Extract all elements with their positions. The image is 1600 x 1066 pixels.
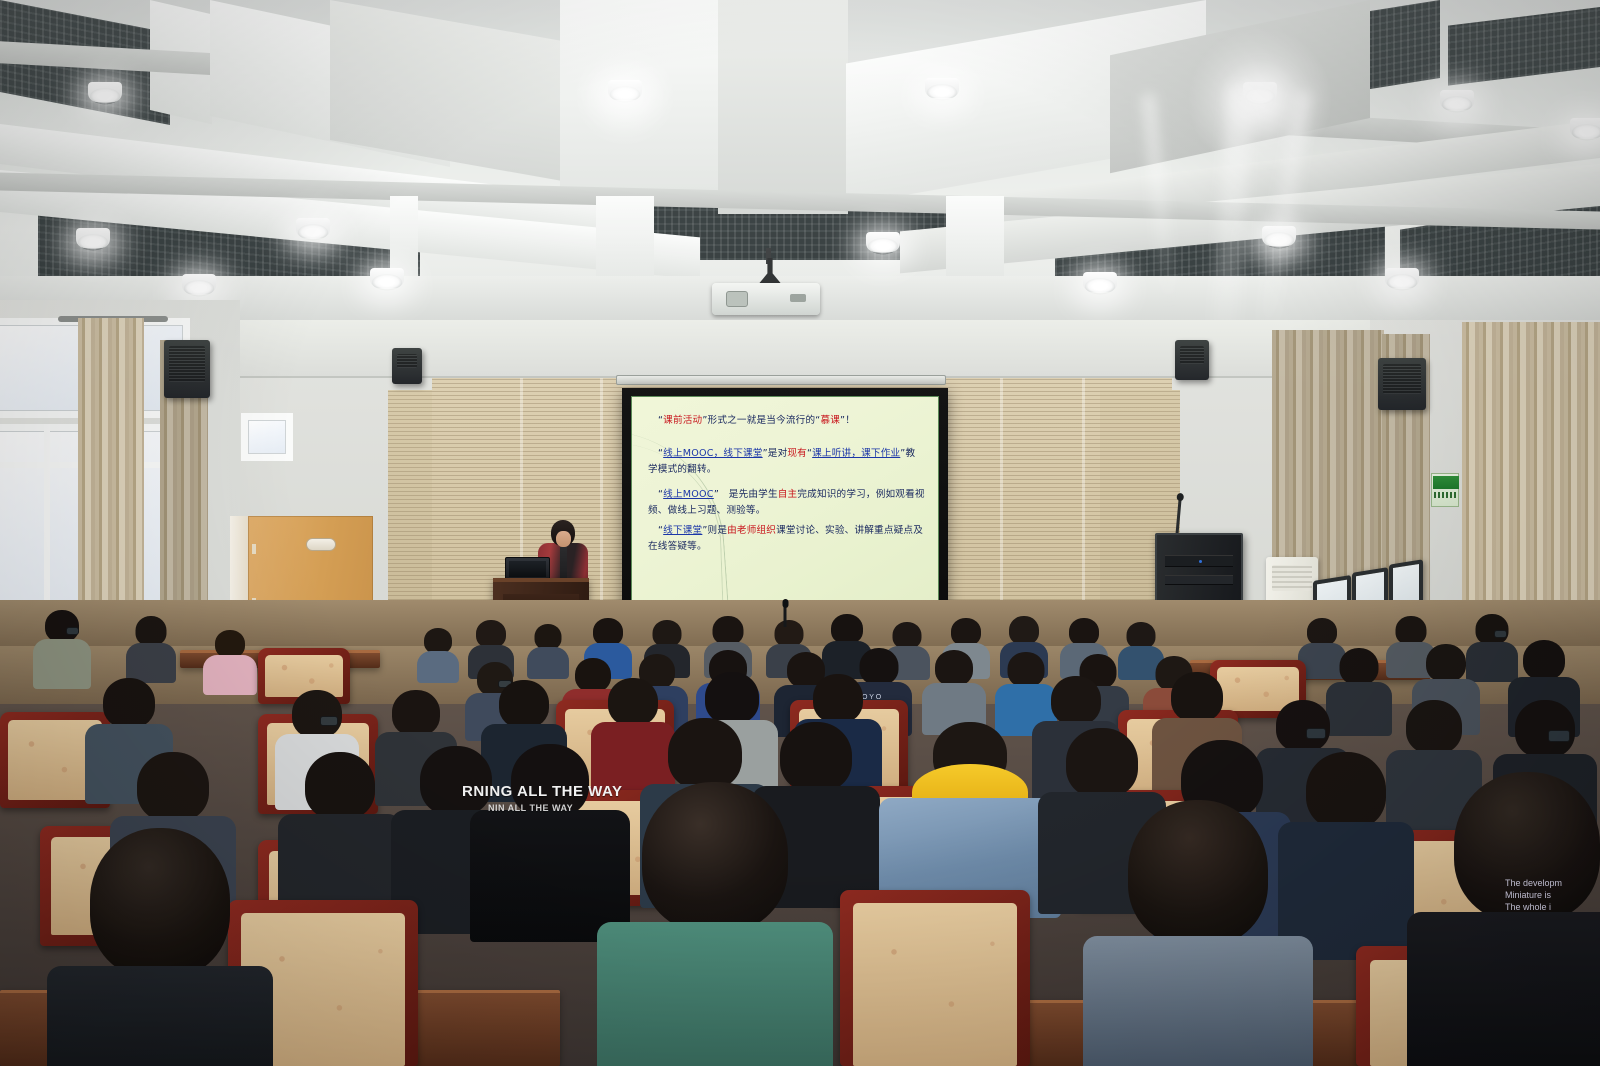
head <box>1307 618 1337 646</box>
eyeglasses <box>320 716 338 726</box>
head <box>1426 644 1466 682</box>
speaker-grille <box>169 346 205 382</box>
ceiling-panel-dark <box>1448 6 1600 86</box>
slide-seg: ” 是先由学生 <box>714 489 778 500</box>
slide-seg-term: 课上听讲，课下作业 <box>812 448 900 459</box>
head <box>392 690 440 736</box>
audience-member-foreground <box>610 782 820 1066</box>
ceiling-downlight <box>76 228 110 248</box>
head <box>813 674 863 723</box>
ceiling-beam <box>718 0 848 214</box>
slat-seam <box>600 378 603 628</box>
rack-unit <box>1165 575 1233 585</box>
torso <box>33 639 91 689</box>
head <box>593 618 623 646</box>
head <box>653 620 682 647</box>
audience-member-foreground <box>60 828 260 1066</box>
torso <box>597 922 833 1066</box>
sign-text <box>1434 492 1458 498</box>
audience-member-foreground <box>1422 772 1600 1066</box>
wall-speaker <box>1175 340 1209 380</box>
torso <box>527 647 569 679</box>
slide-seg: ”是对 <box>763 448 788 459</box>
head <box>1171 672 1223 722</box>
torso <box>203 655 257 695</box>
laptop-screen <box>509 561 546 577</box>
projector-lens <box>726 291 748 307</box>
head <box>90 828 230 978</box>
head <box>893 622 922 649</box>
ceiling-downlight <box>370 268 404 288</box>
ceiling-downlight <box>1385 268 1419 288</box>
slide-paragraph-3: “线上MOOC” 是先由学生自主完成知识的学习，例如观看视频、做线上习题、测验等… <box>648 487 925 519</box>
head <box>831 614 863 644</box>
slide-seg-term: 线上MOOC <box>663 489 714 500</box>
slide-seg: ”则是 <box>702 525 727 536</box>
slide-seg-highlight: 自主 <box>778 489 798 500</box>
lecture-hall-photo: “课前活动”形式之一就是当今流行的“慕课”！ “线上MOOC，线下课堂”是对现有… <box>0 0 1600 1066</box>
slide-seg: ”！ <box>840 415 855 426</box>
ceiling-downlight <box>1440 90 1474 110</box>
chair-cushion <box>853 903 1017 1066</box>
slide-seg-term: 线上MOOC，线下课堂 <box>663 448 762 459</box>
torso <box>1083 936 1313 1066</box>
head <box>1051 676 1101 725</box>
eyeglasses <box>66 627 79 635</box>
slide-content: “课前活动”形式之一就是当今流行的“慕课”！ “线上MOOC，线下课堂”是对现有… <box>632 397 938 570</box>
audience-member-jacket-text <box>480 744 620 934</box>
slide-paragraph-1: “课前活动”形式之一就是当今流行的“慕课”！ <box>648 413 925 429</box>
head <box>137 752 209 822</box>
torso <box>417 651 459 683</box>
door-hinge <box>252 544 256 554</box>
ceiling-downlight <box>1083 272 1117 292</box>
wall-speaker <box>392 348 422 384</box>
projector-control <box>790 294 806 302</box>
safety-notice-sign <box>1431 473 1459 507</box>
head <box>136 616 167 646</box>
acoustic-slat-panel <box>388 390 436 628</box>
floor-microphone <box>784 605 787 627</box>
slide-paragraph-2: “线上MOOC，线下课堂”是对现有“课上听讲，课下作业”教学模式的翻转。 <box>648 446 925 478</box>
speaker-grille <box>1180 346 1204 364</box>
door-nameplate <box>306 538 336 551</box>
ceiling-downlight <box>88 82 122 102</box>
audience-member-denim <box>890 718 1050 910</box>
audience-member <box>36 610 88 684</box>
ceiling <box>0 0 1600 330</box>
ceiling-projector <box>712 283 820 315</box>
audience-member <box>286 752 394 920</box>
ceiling-beam <box>560 0 720 200</box>
head <box>476 620 506 648</box>
shirt-print-line2: Miniature is <box>1505 890 1551 900</box>
head <box>1340 648 1379 685</box>
head <box>499 680 549 728</box>
head <box>215 630 245 658</box>
head <box>1069 618 1099 646</box>
head <box>292 690 342 738</box>
audience-member <box>128 616 174 676</box>
slide-seg: ”形式之一就是当今流行的“ <box>702 415 820 426</box>
ceiling-downlight <box>866 232 900 252</box>
torso <box>47 966 273 1066</box>
slat-seam <box>1000 378 1003 628</box>
presenter-face <box>556 531 571 547</box>
sign-banner <box>1433 476 1459 489</box>
eyeglasses <box>1494 630 1507 638</box>
head <box>1276 700 1330 752</box>
head <box>1127 622 1156 649</box>
audience-member <box>418 628 458 680</box>
head <box>775 620 804 647</box>
head <box>45 610 79 642</box>
wall-speaker <box>1378 358 1426 410</box>
ceiling-downlight <box>1262 226 1296 246</box>
head <box>1009 616 1039 645</box>
audience-member <box>926 650 982 728</box>
eyeglasses <box>1306 728 1326 739</box>
torso <box>126 643 176 683</box>
eyeglasses <box>1548 730 1570 742</box>
ceiling-downlight <box>925 78 959 98</box>
head <box>1523 640 1565 680</box>
audience-member <box>1286 752 1406 952</box>
ceiling-downlight <box>1570 118 1600 138</box>
head <box>951 618 981 646</box>
audience-member-foreground <box>1098 800 1298 1066</box>
head <box>1306 752 1386 830</box>
head <box>713 616 744 645</box>
head <box>1406 700 1462 754</box>
ceiling-downlight <box>1243 82 1277 102</box>
head <box>1396 616 1427 645</box>
torso <box>1407 912 1600 1066</box>
shirt-print-line1: The developm <box>1505 878 1562 888</box>
head <box>103 678 155 728</box>
head <box>668 718 742 790</box>
slide-paragraph-4: “线下课堂”则是由老师组织课堂讨论、实验、讲解重点疑点及在线答疑等。 <box>648 523 925 555</box>
projection-screen: “课前活动”形式之一就是当今流行的“慕课”！ “线上MOOC，线下课堂”是对现有… <box>631 396 939 609</box>
screen-housing <box>616 375 946 385</box>
audience-chair[interactable] <box>840 890 1030 1066</box>
head <box>705 672 759 724</box>
jacket-print-main: RNING ALL THE WAY <box>462 783 622 800</box>
head <box>1128 800 1268 946</box>
audience-member <box>528 624 568 676</box>
projection-screen-frame: “课前活动”形式之一就是当今流行的“慕课”！ “线上MOOC，线下课堂”是对现有… <box>622 388 948 617</box>
jacket-print-sub: NIN ALL THE WAY <box>488 803 573 813</box>
audience-member <box>206 630 254 688</box>
slat-seam <box>1082 378 1085 628</box>
slide-seg-highlight: 慕课 <box>820 415 840 426</box>
ceiling-beam <box>946 196 1004 286</box>
head <box>1515 700 1575 758</box>
slide-seg-highlight: 由老师组织 <box>727 525 776 536</box>
speaker-grille <box>397 354 417 368</box>
ceiling-downlight <box>296 218 330 238</box>
slide-seg-term: 线下课堂 <box>663 525 702 536</box>
head <box>305 752 375 820</box>
head <box>1066 728 1138 798</box>
slide-seg-highlight: 课前活动 <box>663 415 702 426</box>
rack-led <box>1199 560 1202 563</box>
ceiling-downlight <box>182 274 216 294</box>
wall-speaker <box>164 340 210 398</box>
ac-vent <box>1272 565 1312 591</box>
shirt-print-line3: The whole i <box>1505 902 1551 912</box>
far-window <box>241 413 293 461</box>
ceiling-beam <box>330 0 580 184</box>
ceiling-downlight <box>608 80 642 100</box>
head <box>642 782 788 932</box>
head <box>935 650 973 686</box>
speaker-grille <box>1383 364 1421 394</box>
slide-seg-highlight: 现有 <box>787 448 807 459</box>
